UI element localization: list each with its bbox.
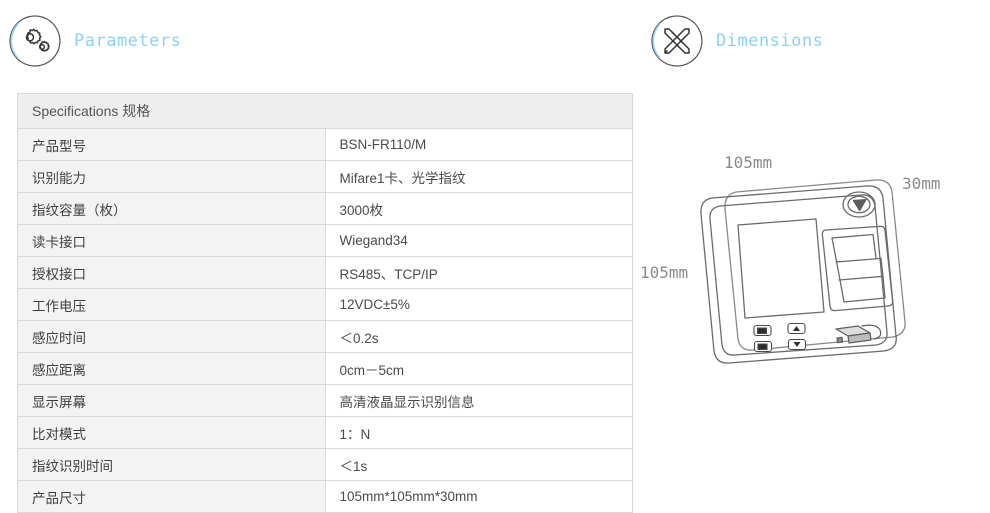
spec-value-cell: 0cm－5cm: [325, 353, 633, 385]
spec-label-cell: 产品尺寸: [18, 481, 326, 513]
table-row: 比对模式1：N: [18, 417, 633, 449]
parameters-title: Parameters: [74, 31, 181, 51]
dimension-depth-label: 30mm: [902, 174, 941, 193]
spec-value-cell: BSN-FR110/M: [325, 129, 633, 161]
spec-value-cell: 1：N: [325, 417, 633, 449]
bell-icon: [854, 200, 867, 211]
table-row: 显示屏幕高清液晶显示识别信息: [18, 385, 633, 417]
device-illustration: 105mm 30mm 105mm: [640, 140, 990, 400]
spec-label-cell: 工作电压: [18, 289, 326, 321]
device-dimension-drawing: 105mm 30mm 105mm: [640, 140, 990, 400]
parameters-section-header: Parameters: [8, 12, 181, 70]
spec-label-cell: 感应时间: [18, 321, 326, 353]
spec-value-cell: 12VDC±5%: [325, 289, 633, 321]
specifications-table: Specifications 规格 产品型号BSN-FR110/M识别能力Mif…: [17, 93, 633, 513]
fingerprint-ridge-base: [844, 298, 885, 302]
spec-value-cell: Wiegand34: [325, 225, 633, 257]
spec-label-cell: 授权接口: [18, 257, 326, 289]
table-row: 感应距离0cm－5cm: [18, 353, 633, 385]
spec-value-cell: Mifare1卡、光学指纹: [325, 161, 633, 193]
table-row: 识别能力Mifare1卡、光学指纹: [18, 161, 633, 193]
spec-label-cell: 指纹识别时间: [18, 449, 326, 481]
spec-label-cell: 比对模式: [18, 417, 326, 449]
table-row: 指纹识别时间＜1s: [18, 449, 633, 481]
device-body-rear: [725, 180, 905, 350]
spec-label-cell: 感应距离: [18, 353, 326, 385]
dimensions-title: Dimensions: [716, 31, 823, 51]
table-row: 感应时间＜0.2s: [18, 321, 633, 353]
spec-label-cell: 识别能力: [18, 161, 326, 193]
table-row: 指纹容量（枚）3000枚: [18, 193, 633, 225]
parameters-badge: [8, 14, 62, 68]
table-header-cell: Specifications 规格: [18, 94, 633, 129]
dimension-width-label: 105mm: [724, 153, 772, 172]
table-row: 工作电压12VDC±5%: [18, 289, 633, 321]
dimensions-badge: [650, 14, 704, 68]
table-header-row: Specifications 规格: [18, 94, 633, 129]
badge-ring: [8, 14, 62, 68]
dimension-height-label: 105mm: [640, 263, 688, 282]
spec-value-cell: 高清液晶显示识别信息: [325, 385, 633, 417]
table-row: 产品尺寸105mm*105mm*30mm: [18, 481, 633, 513]
table-head: Specifications 规格: [18, 94, 633, 129]
spec-value-cell: ＜1s: [325, 449, 633, 481]
spec-value-cell: ＜0.2s: [325, 321, 633, 353]
badge-ring: [650, 14, 704, 68]
spec-value-cell: 3000枚: [325, 193, 633, 225]
spec-label-cell: 指纹容量（枚）: [18, 193, 326, 225]
spec-label-cell: 显示屏幕: [18, 385, 326, 417]
table-row: 授权接口RS485、TCP/IP: [18, 257, 633, 289]
table-row: 读卡接口Wiegand34: [18, 225, 633, 257]
spec-value-cell: RS485、TCP/IP: [325, 257, 633, 289]
spec-label-cell: 产品型号: [18, 129, 326, 161]
spec-value-cell: 105mm*105mm*30mm: [325, 481, 633, 513]
spec-label-cell: 读卡接口: [18, 225, 326, 257]
table-row: 产品型号BSN-FR110/M: [18, 129, 633, 161]
lcd-screen: [738, 219, 824, 318]
card-reader-icon: [836, 325, 881, 343]
table-body: 产品型号BSN-FR110/M识别能力Mifare1卡、光学指纹指纹容量（枚）3…: [18, 129, 633, 513]
fingerprint-ridge-curves: [832, 235, 885, 303]
dimensions-section-header: Dimensions: [650, 12, 823, 70]
